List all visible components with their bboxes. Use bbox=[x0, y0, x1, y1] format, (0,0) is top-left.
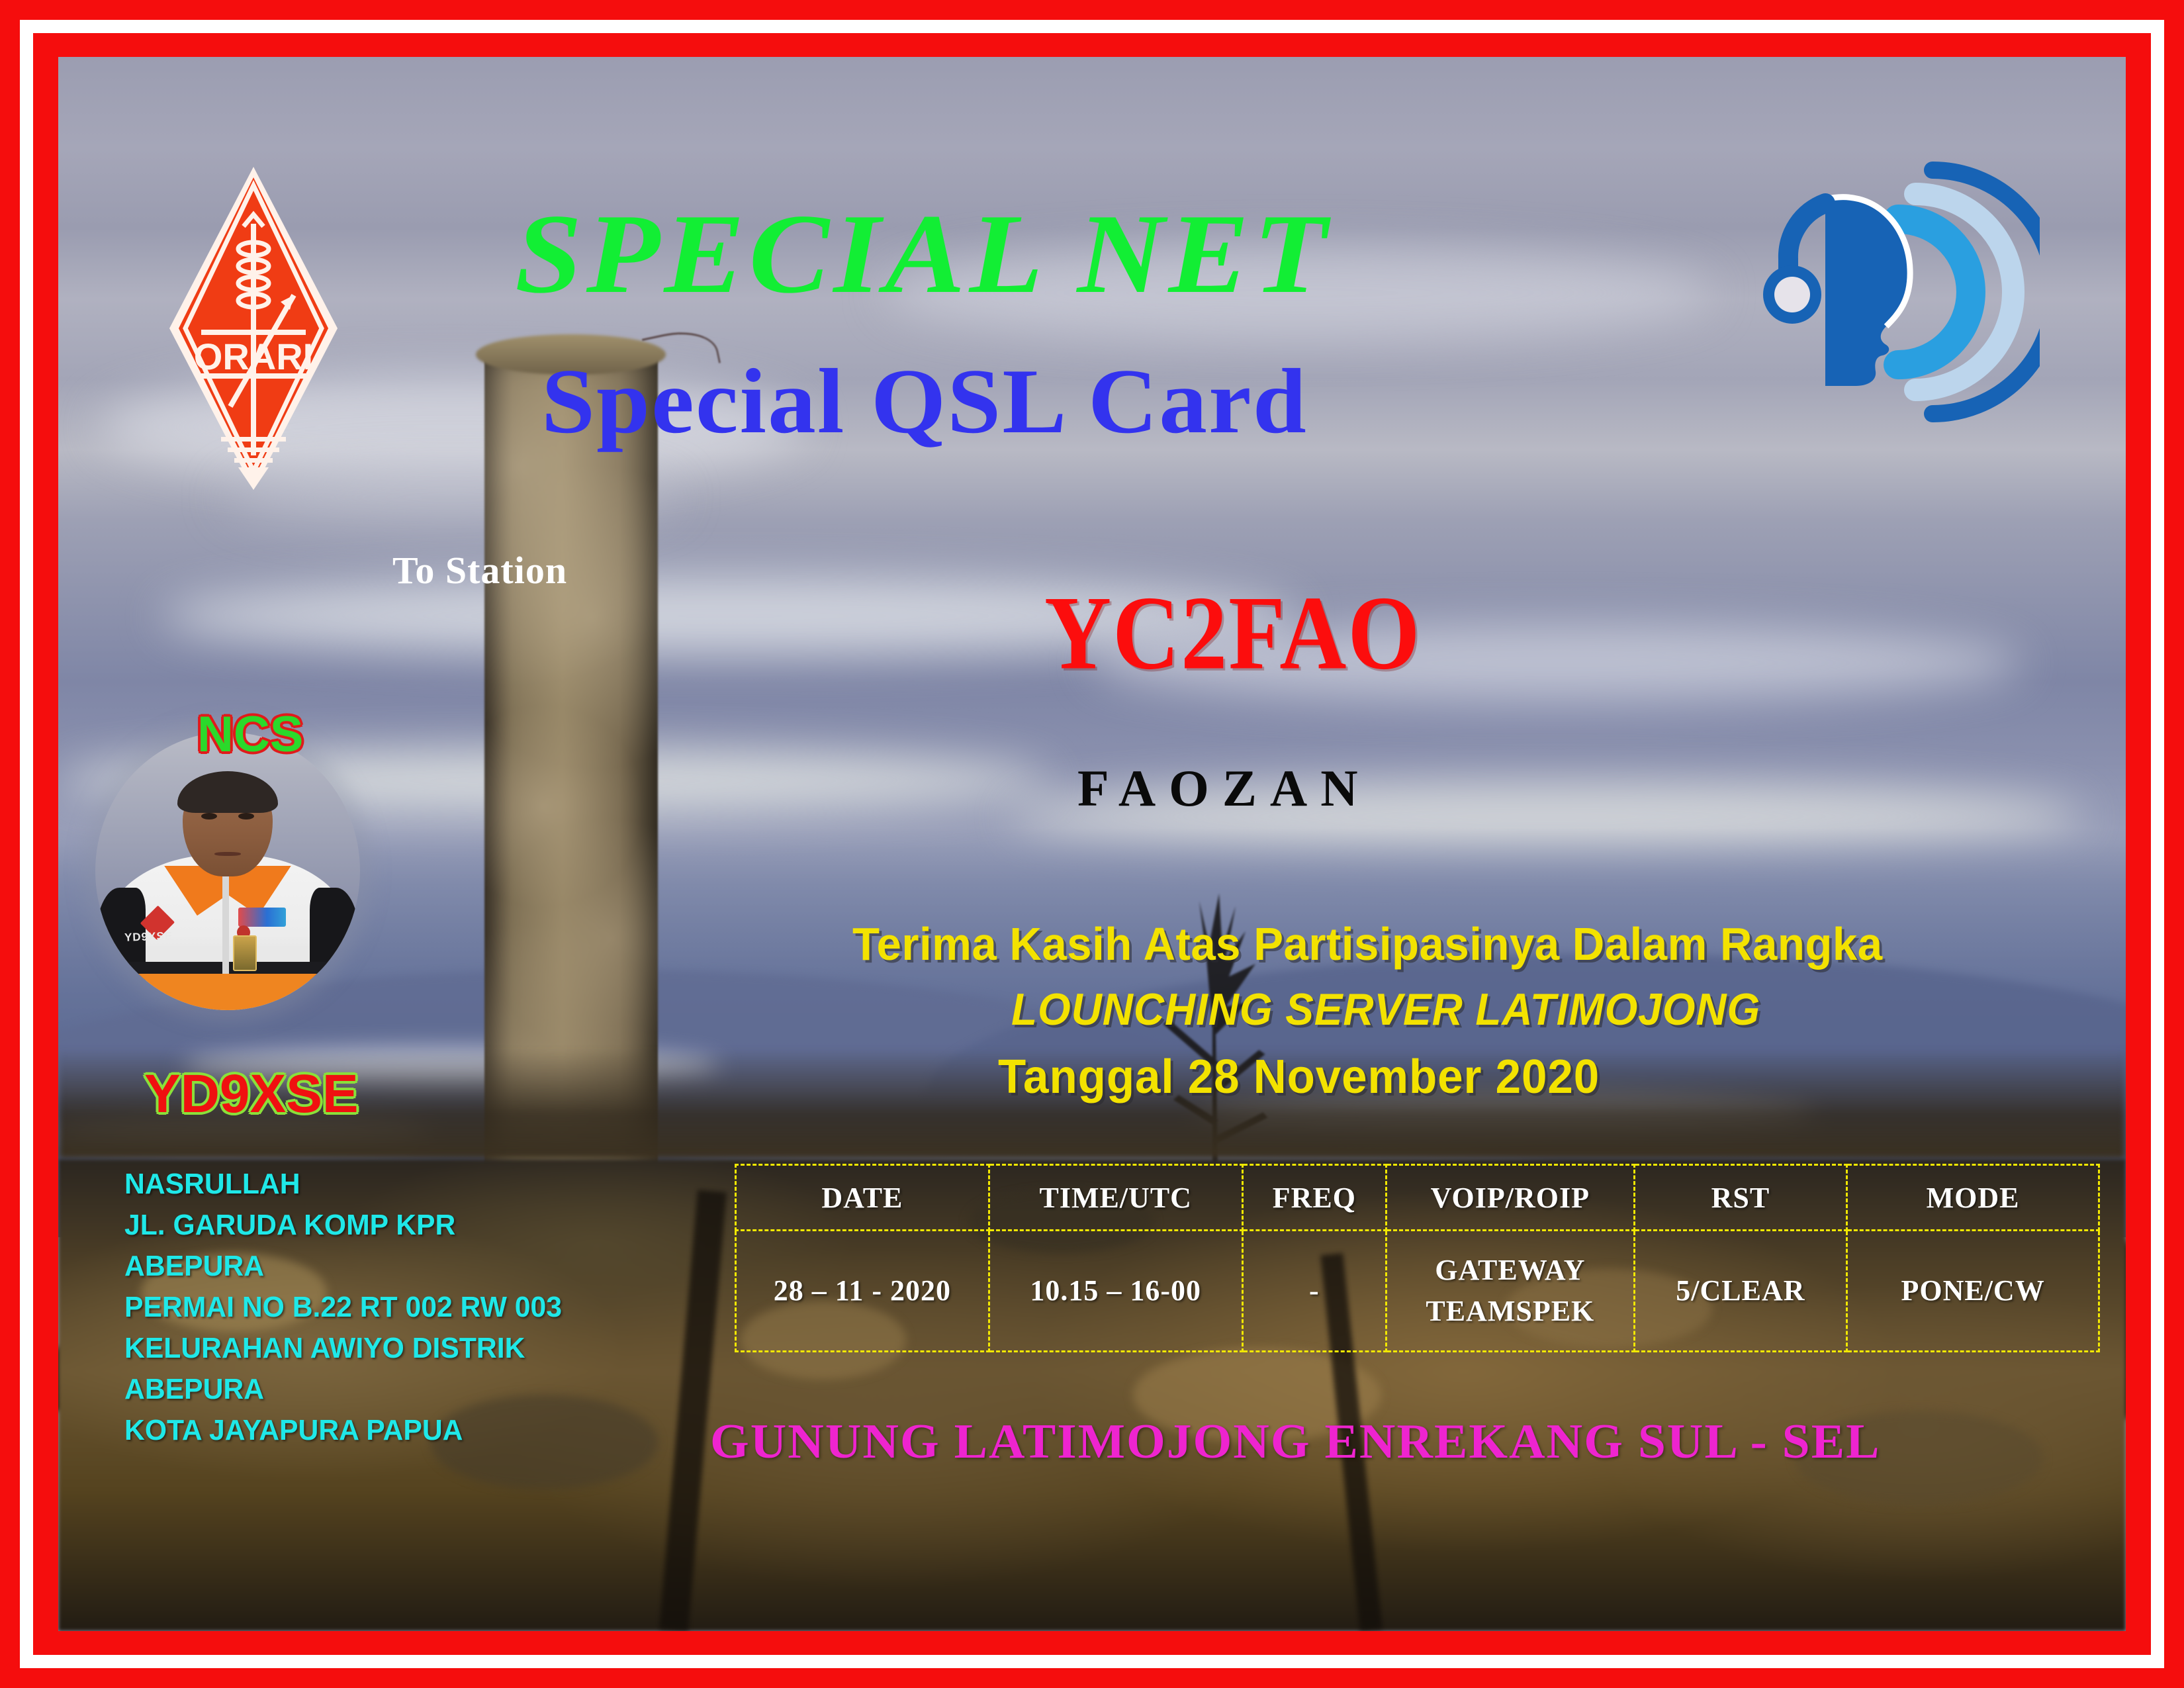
orari-logo: ORARI bbox=[164, 163, 343, 494]
mountain-caption: GUNUNG LATIMOJONG ENREKANG SUL - SEL bbox=[710, 1414, 1880, 1470]
cell-voip-line2: TEAMSPEK bbox=[1387, 1291, 1633, 1332]
photo-shirt-placket bbox=[222, 874, 229, 974]
mailing-address-block: NASRULLAH JL. GARUDA KOMP KPR ABEPURA PE… bbox=[124, 1164, 700, 1451]
address-line: JL. GARUDA KOMP KPR bbox=[124, 1205, 683, 1246]
address-line: PERMAI NO B.22 RT 002 RW 003 bbox=[124, 1287, 683, 1328]
ncs-callsign: YD9XSE bbox=[144, 1063, 359, 1125]
orari-logo-text: ORARI bbox=[194, 336, 313, 377]
event-thanks-line: Terima Kasih Atas Partisipasinya Dalam R… bbox=[852, 917, 1883, 970]
photo-mouth bbox=[214, 852, 241, 857]
address-line: KELURAHAN AWIYO DISTRIK bbox=[124, 1328, 683, 1369]
cell-mode: PONE/CW bbox=[1847, 1231, 2099, 1352]
to-station-label: To Station bbox=[392, 548, 567, 592]
address-line: NASRULLAH bbox=[124, 1164, 683, 1205]
page-subtitle-special-qsl-card: Special QSL Card bbox=[541, 348, 1308, 455]
radio-headset-logo bbox=[1762, 153, 2040, 431]
column-header-date: DATE bbox=[736, 1165, 989, 1231]
cell-date: 28 – 11 - 2020 bbox=[736, 1231, 989, 1352]
cell-freq: - bbox=[1242, 1231, 1386, 1352]
station-callsign: YC2FAO bbox=[1044, 573, 1421, 694]
address-line: ABEPURA bbox=[124, 1246, 683, 1287]
event-date-line: Tanggal 28 November 2020 bbox=[998, 1050, 1600, 1104]
photo-eye-right bbox=[238, 813, 254, 820]
ncs-label: NCS bbox=[197, 706, 303, 763]
background-photograph: ORARI bbox=[58, 57, 2126, 1631]
photo-id-card bbox=[233, 935, 257, 971]
ncs-operator-photo: YD9XSE bbox=[95, 732, 360, 1010]
page-title-special-net: SPECIAL NET bbox=[515, 189, 1331, 320]
cell-rst: 5/CLEAR bbox=[1634, 1231, 1847, 1352]
address-line: ABEPURA bbox=[124, 1369, 683, 1410]
photo-eye-left bbox=[201, 813, 217, 820]
column-header-time-utc: TIME/UTC bbox=[989, 1165, 1242, 1231]
table-header-row: DATE TIME/UTC FREQ VOIP/ROIP RST MODE bbox=[736, 1165, 2099, 1231]
column-header-rst: RST bbox=[1634, 1165, 1847, 1231]
cell-time-utc: 10.15 – 16-00 bbox=[989, 1231, 1242, 1352]
qsl-card: ORARI bbox=[0, 0, 2184, 1688]
event-title-line: LOUNCHING SERVER LATIMOJONG bbox=[1011, 984, 1760, 1035]
photo-shirt-callsign: YD9XSE bbox=[124, 929, 194, 945]
qso-log-table: DATE TIME/UTC FREQ VOIP/ROIP RST MODE 28… bbox=[735, 1164, 2100, 1352]
column-header-mode: MODE bbox=[1847, 1165, 2099, 1231]
cell-voip-line1: GATEWAY bbox=[1387, 1250, 1633, 1291]
column-header-voip-roip: VOIP/ROIP bbox=[1387, 1165, 1635, 1231]
operator-name: FAOZAN bbox=[1077, 759, 1371, 818]
table-row: 28 – 11 - 2020 10.15 – 16-00 - GATEWAY T… bbox=[736, 1231, 2099, 1352]
column-header-freq: FREQ bbox=[1242, 1165, 1386, 1231]
address-line: KOTA JAYAPURA PAPUA bbox=[124, 1410, 683, 1451]
photo-shirt-hem bbox=[111, 974, 344, 1010]
cell-voip-roip: GATEWAY TEAMSPEK bbox=[1387, 1231, 1635, 1352]
photo-badge-right bbox=[238, 908, 286, 927]
